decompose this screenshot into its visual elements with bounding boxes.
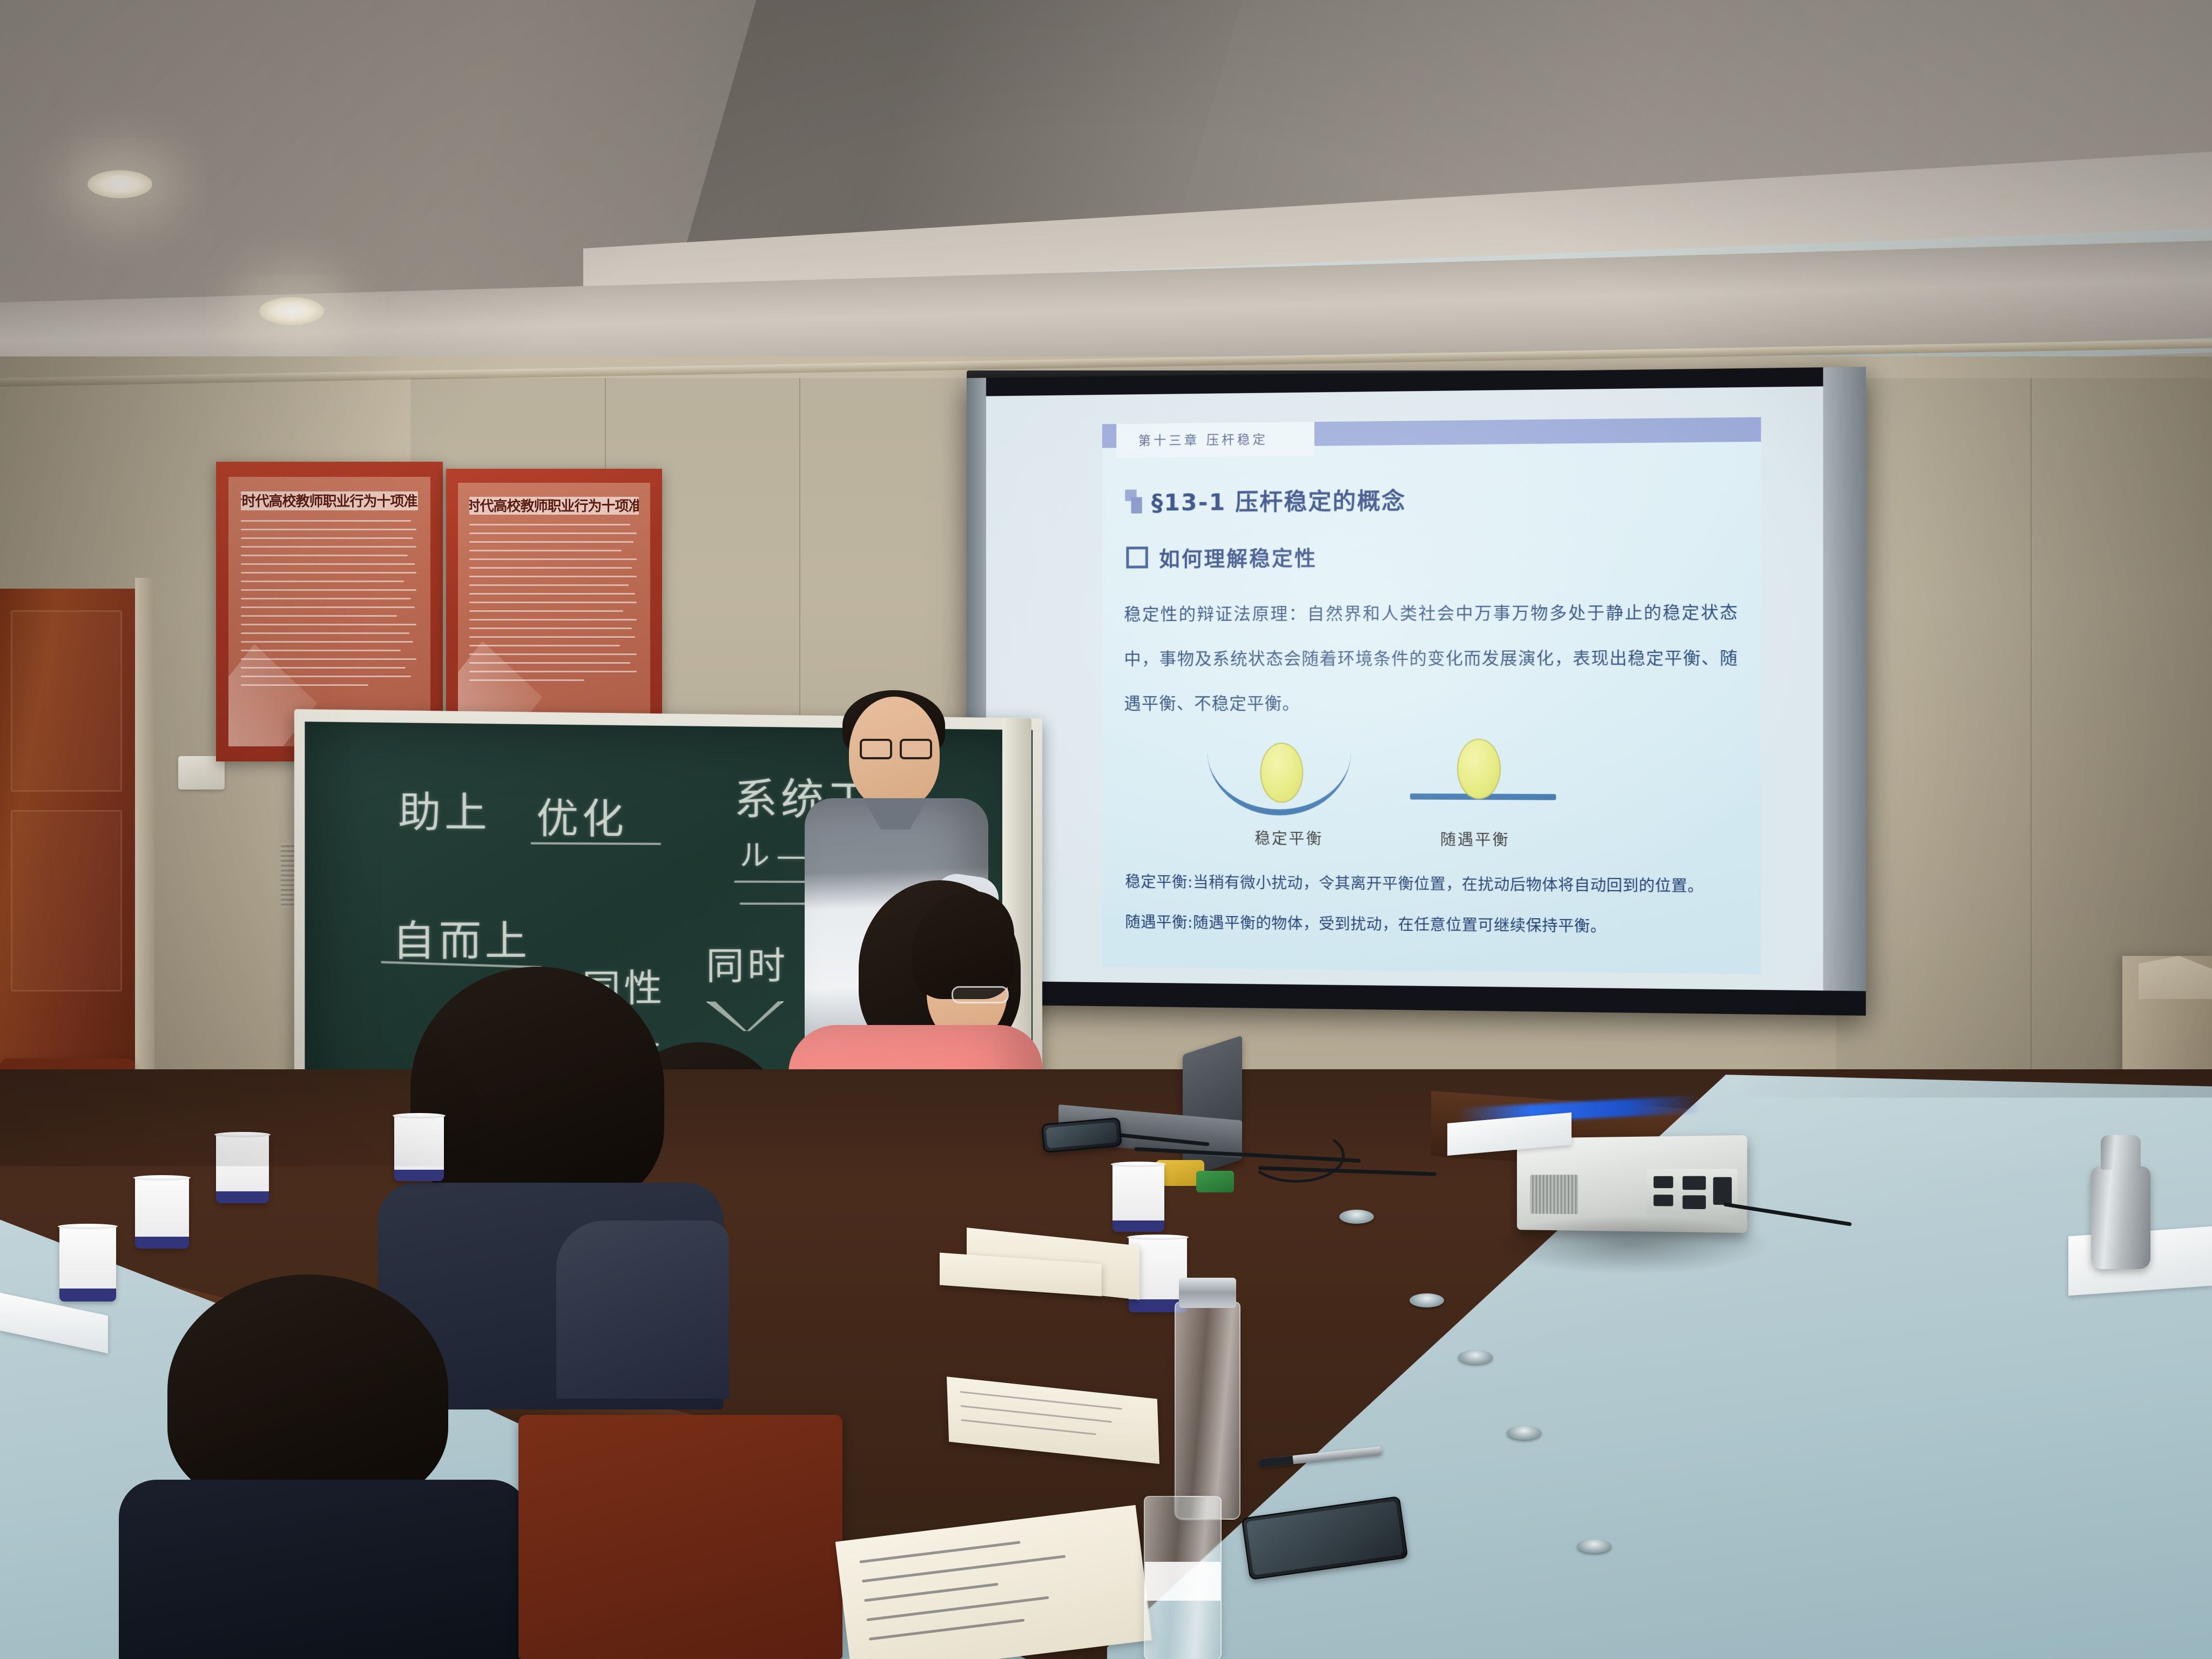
- paper-cup[interactable]: [135, 1177, 189, 1249]
- glasses-icon: [952, 986, 1009, 1003]
- slide-definition-stable: 稳定平衡:当稍有微小扰动，令其离开平衡位置，在扰动后物体将自动回到的位置。: [1125, 874, 1740, 895]
- glass-water-bottle-foreground[interactable]: [1144, 1496, 1222, 1659]
- attendee-shoulder: [556, 1220, 729, 1399]
- green-adapter: [1196, 1171, 1234, 1192]
- projector-port-panel: [1647, 1169, 1737, 1216]
- slide-section-heading: §13-1 压杆稳定的概念: [1125, 482, 1406, 518]
- projection-screen-surface: 第十三章 压杆稳定 §13-1 压杆稳定的概念 如何理解稳定性 稳定性的辩证法原…: [986, 386, 1823, 990]
- projector-vent: [1530, 1175, 1579, 1213]
- poster-title: 新时代高校教师职业行为十项准则: [469, 497, 638, 515]
- paper-cup[interactable]: [1112, 1164, 1164, 1232]
- mug-interior: [1389, 1599, 1445, 1623]
- slide-definition-neutral: 随遇平衡:随遇平衡的物体，受到扰动，在任意位置可继续保持平衡。: [1125, 914, 1740, 937]
- poster-title: 新时代高校教师职业行为十项准则: [241, 491, 419, 510]
- slide-subsection-title: 如何理解稳定性: [1159, 541, 1317, 572]
- glasses-icon: [860, 739, 929, 755]
- projection-screen: 第十三章 压杆稳定 §13-1 压杆稳定的概念 如何理解稳定性 稳定性的辩证法原…: [967, 367, 1866, 1016]
- classroom-scene: 新时代高校教师职业行为十项准则 新时代高校教师职业行为十项准则: [0, 0, 2212, 1659]
- equilibrium-diagram: 稳定平衡 随遇平衡: [1195, 729, 1631, 846]
- paper-cup[interactable]: [394, 1115, 444, 1181]
- screen-right-border: [1823, 367, 1866, 991]
- ceiling-downlight-icon: [87, 170, 152, 198]
- ball-stable-icon: [1260, 743, 1303, 803]
- chalk-note: 自而上: [392, 908, 530, 968]
- cable-grommet[interactable]: [1458, 1350, 1493, 1364]
- wall-poster: 新时代高校教师职业行为十项准则: [446, 469, 662, 752]
- door-frame: [135, 578, 154, 1118]
- steel-thermos[interactable]: [2091, 1166, 2150, 1269]
- figure-label-stable: 稳定平衡: [1255, 827, 1323, 849]
- slide-subsection-heading: 如何理解稳定性: [1126, 541, 1317, 572]
- cable-loop: [1247, 1129, 1345, 1183]
- cable-grommet[interactable]: [1410, 1293, 1444, 1307]
- attendee-torso: [119, 1480, 529, 1659]
- slide-chapter-label: 第十三章 压杆稳定: [1138, 429, 1268, 449]
- cable-grommet[interactable]: [1577, 1539, 1611, 1553]
- chalk-note: 优化: [536, 785, 627, 845]
- slide-section-title: §13-1 压杆稳定的概念: [1151, 482, 1406, 517]
- attendee-hair: [410, 967, 664, 1210]
- cable-grommet[interactable]: [1507, 1426, 1541, 1440]
- cable-grommet[interactable]: [1339, 1210, 1374, 1224]
- chair[interactable]: [518, 1415, 842, 1659]
- slide-paragraph: 稳定性的辩证法原理：自然界和人类社会中万事万物多处于静止的稳定状态中，事物及系统…: [1124, 590, 1738, 727]
- projector[interactable]: [1517, 1135, 1747, 1233]
- figure-label-neutral: 随遇平衡: [1440, 828, 1510, 851]
- pink-mug[interactable]: [1382, 1596, 1452, 1654]
- door[interactable]: [0, 589, 146, 1107]
- paper-cup[interactable]: [59, 1226, 116, 1301]
- paper-cup[interactable]: [216, 1134, 269, 1203]
- attendee-hair: [167, 1274, 448, 1507]
- square-bullet-icon: [1125, 489, 1141, 514]
- presentation-slide: 第十三章 压杆稳定 §13-1 压杆稳定的概念 如何理解稳定性 稳定性的辩证法原…: [1102, 417, 1761, 974]
- chalk-note: 助上: [398, 779, 490, 839]
- ball-neutral-icon: [1457, 739, 1501, 799]
- glass-water-bottle[interactable]: [1175, 1301, 1240, 1520]
- ceiling-downlight-icon: [259, 297, 324, 325]
- box-bullet-icon: [1126, 547, 1148, 568]
- attendee-seated-foreground: [119, 1274, 529, 1659]
